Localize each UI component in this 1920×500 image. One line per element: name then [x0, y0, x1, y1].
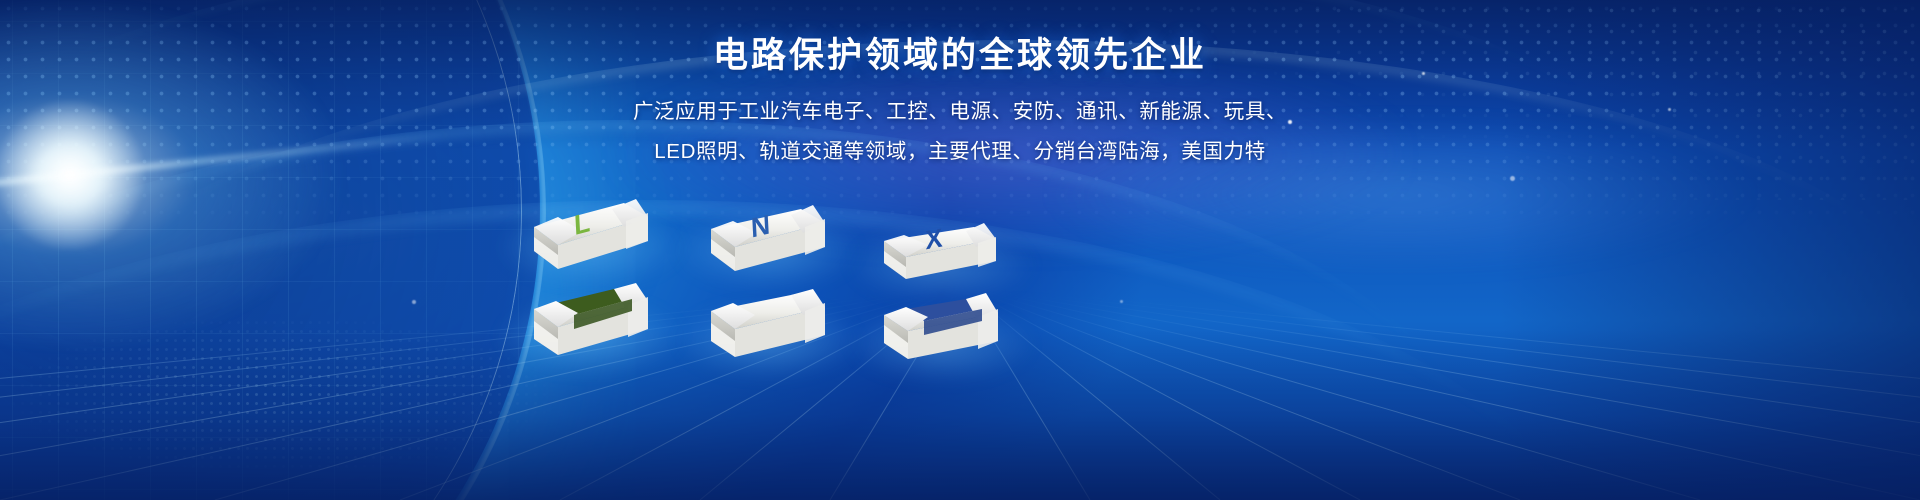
smd-fuse-blue[interactable]	[878, 289, 1003, 384]
chip-mark-n: N	[750, 208, 771, 244]
smd-fuse-n[interactable]: N	[705, 199, 830, 289]
chip-mark-l: L	[573, 206, 591, 242]
smd-fuse-plain[interactable]	[705, 285, 830, 380]
smd-fuse-blue-graphic	[878, 289, 1003, 384]
smd-fuse-l-graphic: L	[528, 195, 653, 285]
smd-fuse-plain-graphic	[705, 285, 830, 380]
smd-fuse-green-graphic	[528, 281, 653, 376]
page-title: 电路保护领域的全球领先企业	[0, 34, 1920, 78]
subtitle-line-2: LED照明、轨道交通等领域，主要代理、分销台湾陆海，美国力特	[0, 132, 1920, 172]
sparkle-particle	[1510, 176, 1515, 181]
product-gallery: L N	[0, 185, 1920, 385]
smd-fuse-green[interactable]	[528, 281, 653, 376]
hero-banner: 电路保护领域的全球领先企业 广泛应用于工业汽车电子、工控、电源、安防、通讯、新能…	[0, 0, 1920, 500]
chip-mark-x: X	[925, 222, 944, 255]
subtitle-line-1: 广泛应用于工业汽车电子、工控、电源、安防、通讯、新能源、玩具、	[0, 92, 1920, 132]
banner-copy: 电路保护领域的全球领先企业 广泛应用于工业汽车电子、工控、电源、安防、通讯、新能…	[0, 34, 1920, 172]
smd-fuse-n-graphic: N	[705, 199, 830, 289]
smd-fuse-l[interactable]: L	[528, 195, 653, 285]
